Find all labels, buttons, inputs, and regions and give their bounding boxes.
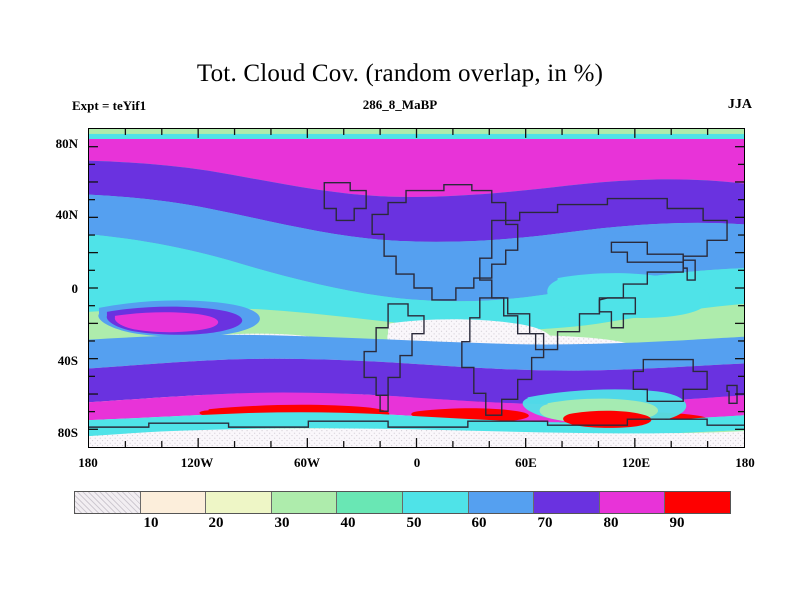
ytick-label-40s: 40S — [18, 353, 78, 369]
xtick-label-60e: 60E — [491, 455, 561, 471]
xtick-label-180e: 180 — [710, 455, 780, 471]
xtick-label-120e: 120E — [601, 455, 671, 471]
colorbar-tick-20: 20 — [196, 515, 236, 532]
season-label: JJA — [728, 97, 752, 113]
ytick-label-0: 0 — [18, 281, 78, 297]
ytick-label-80n: 80N — [18, 136, 78, 152]
axis-ticks — [89, 129, 744, 447]
xtick-label-180w: 180 — [53, 455, 123, 471]
colorbar-band-80-90 — [600, 492, 666, 513]
xtick-label-0: 0 — [382, 455, 452, 471]
map-plot-area — [88, 128, 745, 448]
colorbar-tick-50: 50 — [394, 515, 434, 532]
colorbar-tick-70: 70 — [525, 515, 565, 532]
colorbar-band-10-20 — [141, 492, 207, 513]
colorbar-band-90-100 — [665, 492, 730, 513]
ytick-label-80s: 80S — [18, 425, 78, 441]
colorbar-tick-40: 40 — [328, 515, 368, 532]
colorbar-band-30-40 — [272, 492, 338, 513]
xtick-label-120w: 120W — [162, 455, 232, 471]
colorbar-band-50-60 — [403, 492, 469, 513]
page-title: Tot. Cloud Cov. (random overlap, in %) — [0, 60, 800, 88]
ytick-label-40n: 40N — [18, 207, 78, 223]
colorbar-band-60-70 — [469, 492, 535, 513]
colorbar — [74, 491, 731, 514]
colorbar-band-0-10 — [75, 492, 141, 513]
colorbar-tick-90: 90 — [657, 515, 697, 532]
colorbar-tick-30: 30 — [262, 515, 302, 532]
experiment-label: Expt = teYif1 — [72, 98, 146, 114]
colorbar-tick-80: 80 — [591, 515, 631, 532]
colorbar-tick-10: 10 — [131, 515, 171, 532]
colorbar-band-70-80 — [534, 492, 600, 513]
climate-figure: Tot. Cloud Cov. (random overlap, in %) 2… — [0, 0, 800, 600]
colorbar-tick-60: 60 — [459, 515, 499, 532]
colorbar-band-20-30 — [206, 492, 272, 513]
colorbar-band-40-50 — [337, 492, 403, 513]
xtick-label-60w: 60W — [272, 455, 342, 471]
